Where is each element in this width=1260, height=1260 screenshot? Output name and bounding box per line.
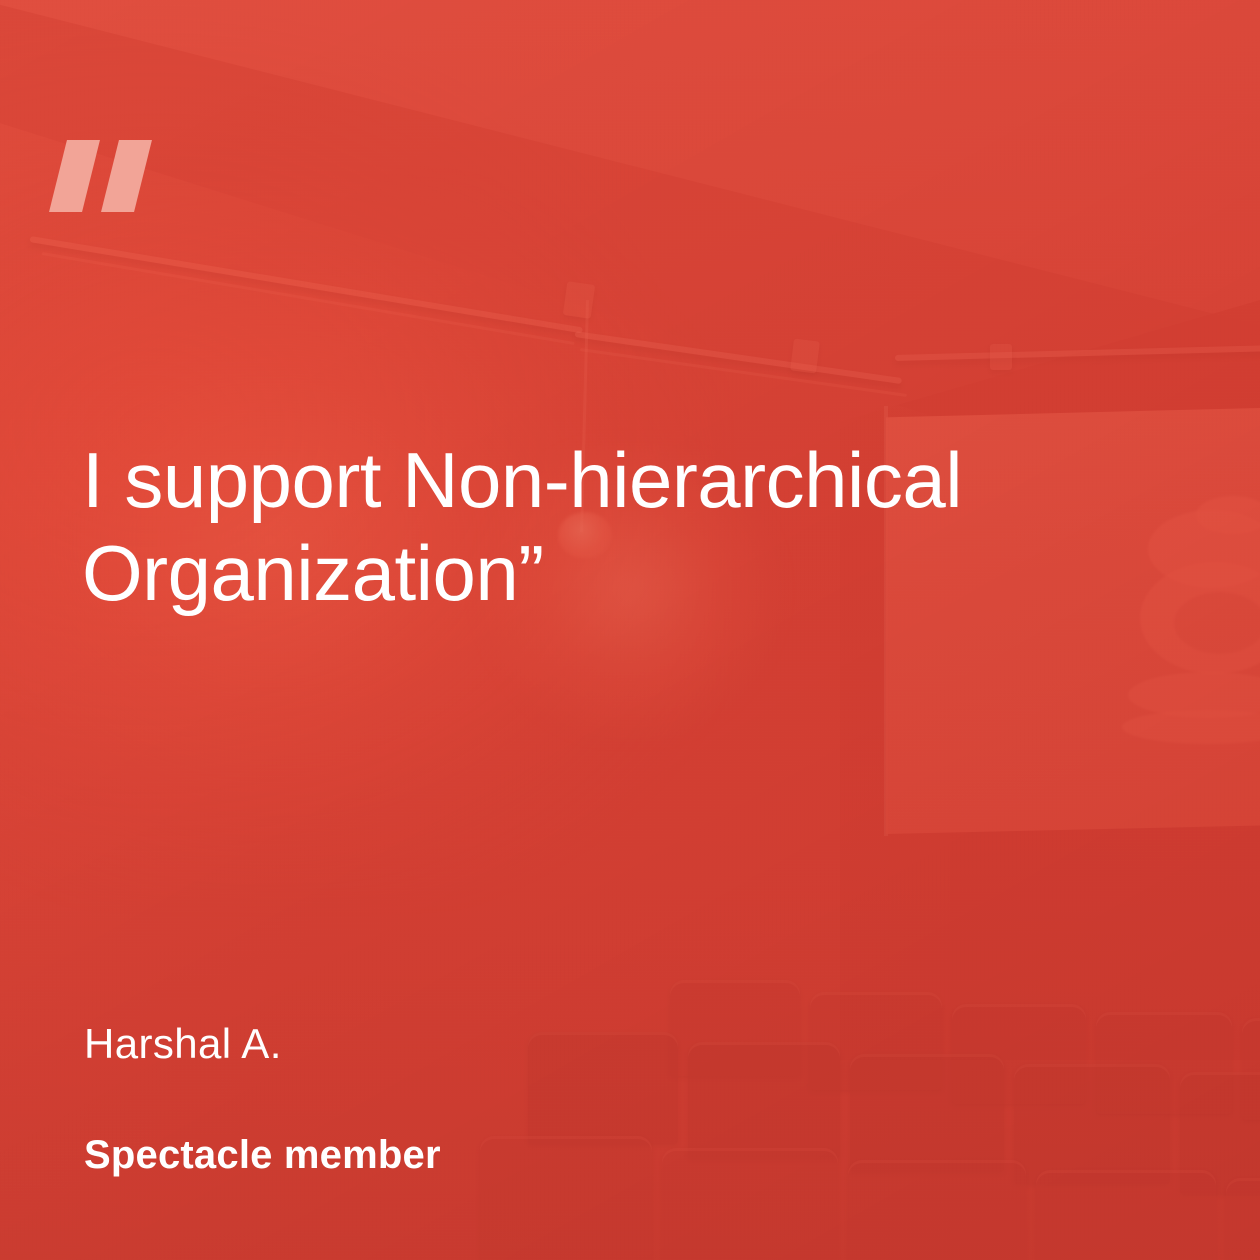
quote-bar-right: [101, 140, 152, 212]
testimonial-card: I support Non-hierarchical Organization”…: [0, 0, 1260, 1260]
author-role: Spectacle member: [84, 1130, 441, 1180]
double-quote-mark-icon: [50, 140, 154, 212]
quote-bar-left: [49, 140, 100, 212]
attribution-block: Harshal A. Spectacle member: [84, 1018, 984, 1070]
quote-text: I support Non-hierarchical Organization”: [82, 434, 1102, 620]
card-content: I support Non-hierarchical Organization”…: [0, 0, 1260, 1260]
author-name: Harshal A.: [84, 1018, 984, 1070]
